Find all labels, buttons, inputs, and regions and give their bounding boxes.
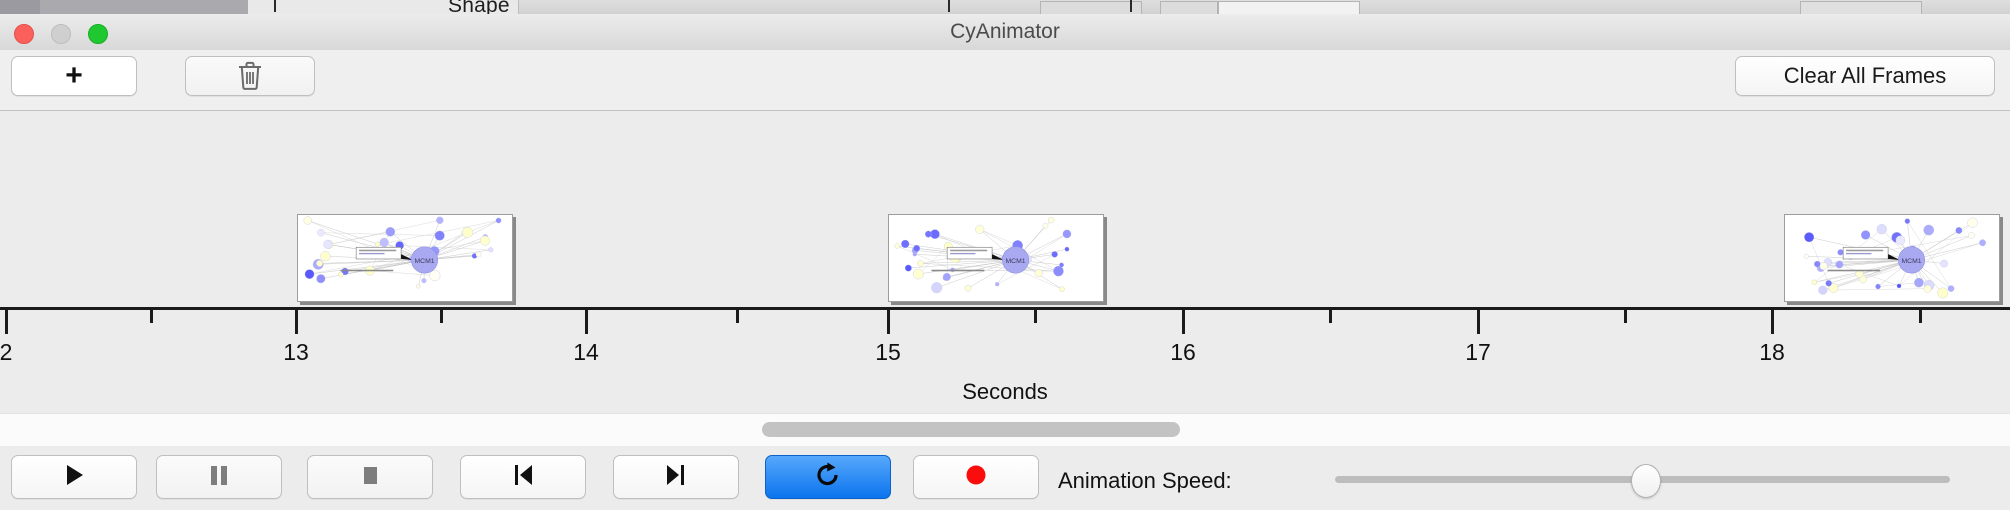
axis-tick-minor-1 [150,310,153,323]
delete-frame-button[interactable] [185,56,315,96]
frame-thumbnail-3[interactable]: MCM1 [1784,214,2000,302]
axis-tick-label-18: 18 [1759,339,1785,366]
background-toolbar-dark-segment [0,0,40,14]
animation-speed-label: Animation Speed: [1058,468,1232,494]
loop-button[interactable] [765,455,891,499]
frame-thumbnail-2[interactable]: MCM1 [888,214,1104,302]
pause-button[interactable] [156,455,282,499]
clear-all-frames-label: Clear All Frames [1784,63,1947,89]
axis-tick-13 [295,310,298,334]
stop-button[interactable] [307,455,433,499]
background-window-label: Shape [448,0,510,14]
svg-text:MCM1: MCM1 [414,258,434,265]
title-bar[interactable]: CyAnimator [0,14,2010,51]
axis-title: Seconds [0,379,2010,405]
skip-backward-icon [509,461,537,494]
skip-end-button[interactable] [613,455,739,499]
background-window-strip: Shape [0,0,2010,14]
horizontal-scrollbar[interactable] [0,413,2010,447]
record-button[interactable] [913,455,1039,499]
axis-tick-label-15: 15 [875,339,901,366]
background-box-b [1160,1,1218,14]
axis-tick-label-14: 14 [573,339,599,366]
axis-tick-minor-9 [1329,310,1332,323]
axis-tick-minor-7 [1034,310,1037,323]
background-box-a [1040,1,1142,14]
record-icon [962,461,990,494]
play-button[interactable] [11,455,137,499]
svg-text:MCM1: MCM1 [1005,258,1025,265]
axis-tick-minor-5 [736,310,739,323]
loop-icon [814,461,842,494]
skip-start-button[interactable] [460,455,586,499]
background-seg-a [248,0,309,14]
skip-forward-icon [662,461,690,494]
play-icon [60,461,88,494]
background-box-c [1218,1,1360,14]
cyanimator-window: Shape CyAnimator + Clear All Frames [0,0,2010,510]
background-tick-d [1130,0,1132,12]
axis-tick-label-17: 17 [1465,339,1491,366]
axis-tick-14 [585,310,588,334]
animation-speed-slider-knob[interactable] [1631,464,1661,498]
background-toolbar-segment [40,0,248,14]
axis-tick-label-13: 13 [283,339,309,366]
plus-icon: + [65,61,83,91]
axis-tick-minor-11 [1624,310,1627,323]
axis-tick-label-16: 16 [1170,339,1196,366]
trash-icon [237,61,263,91]
timeline-axis-line [0,307,2010,310]
axis-tick-17 [1477,310,1480,334]
stop-icon [357,461,383,494]
axis-tick-16 [1182,310,1185,334]
svg-text:MCM1: MCM1 [1901,258,1921,265]
clear-all-frames-button[interactable]: Clear All Frames [1735,56,1995,96]
axis-tick-label-2: 2 [0,339,12,366]
background-tick-a [274,0,276,12]
axis-tick-minor-13 [1919,310,1922,323]
add-frame-button[interactable]: + [11,56,137,96]
background-box-d [1800,1,1922,14]
horizontal-scrollbar-thumb[interactable] [762,422,1180,437]
timeline-panel[interactable]: 2131415161718 MCM1MCM1MCM1 Seconds [0,111,2010,413]
window-title: CyAnimator [0,14,2010,50]
axis-tick-15 [887,310,890,334]
axis-tick-minor-3 [440,310,443,323]
axis-tick-2 [5,310,8,334]
axis-tick-18 [1771,310,1774,334]
frame-thumbnail-1[interactable]: MCM1 [297,214,513,302]
background-tick-c [948,0,950,12]
pause-icon [206,461,232,494]
